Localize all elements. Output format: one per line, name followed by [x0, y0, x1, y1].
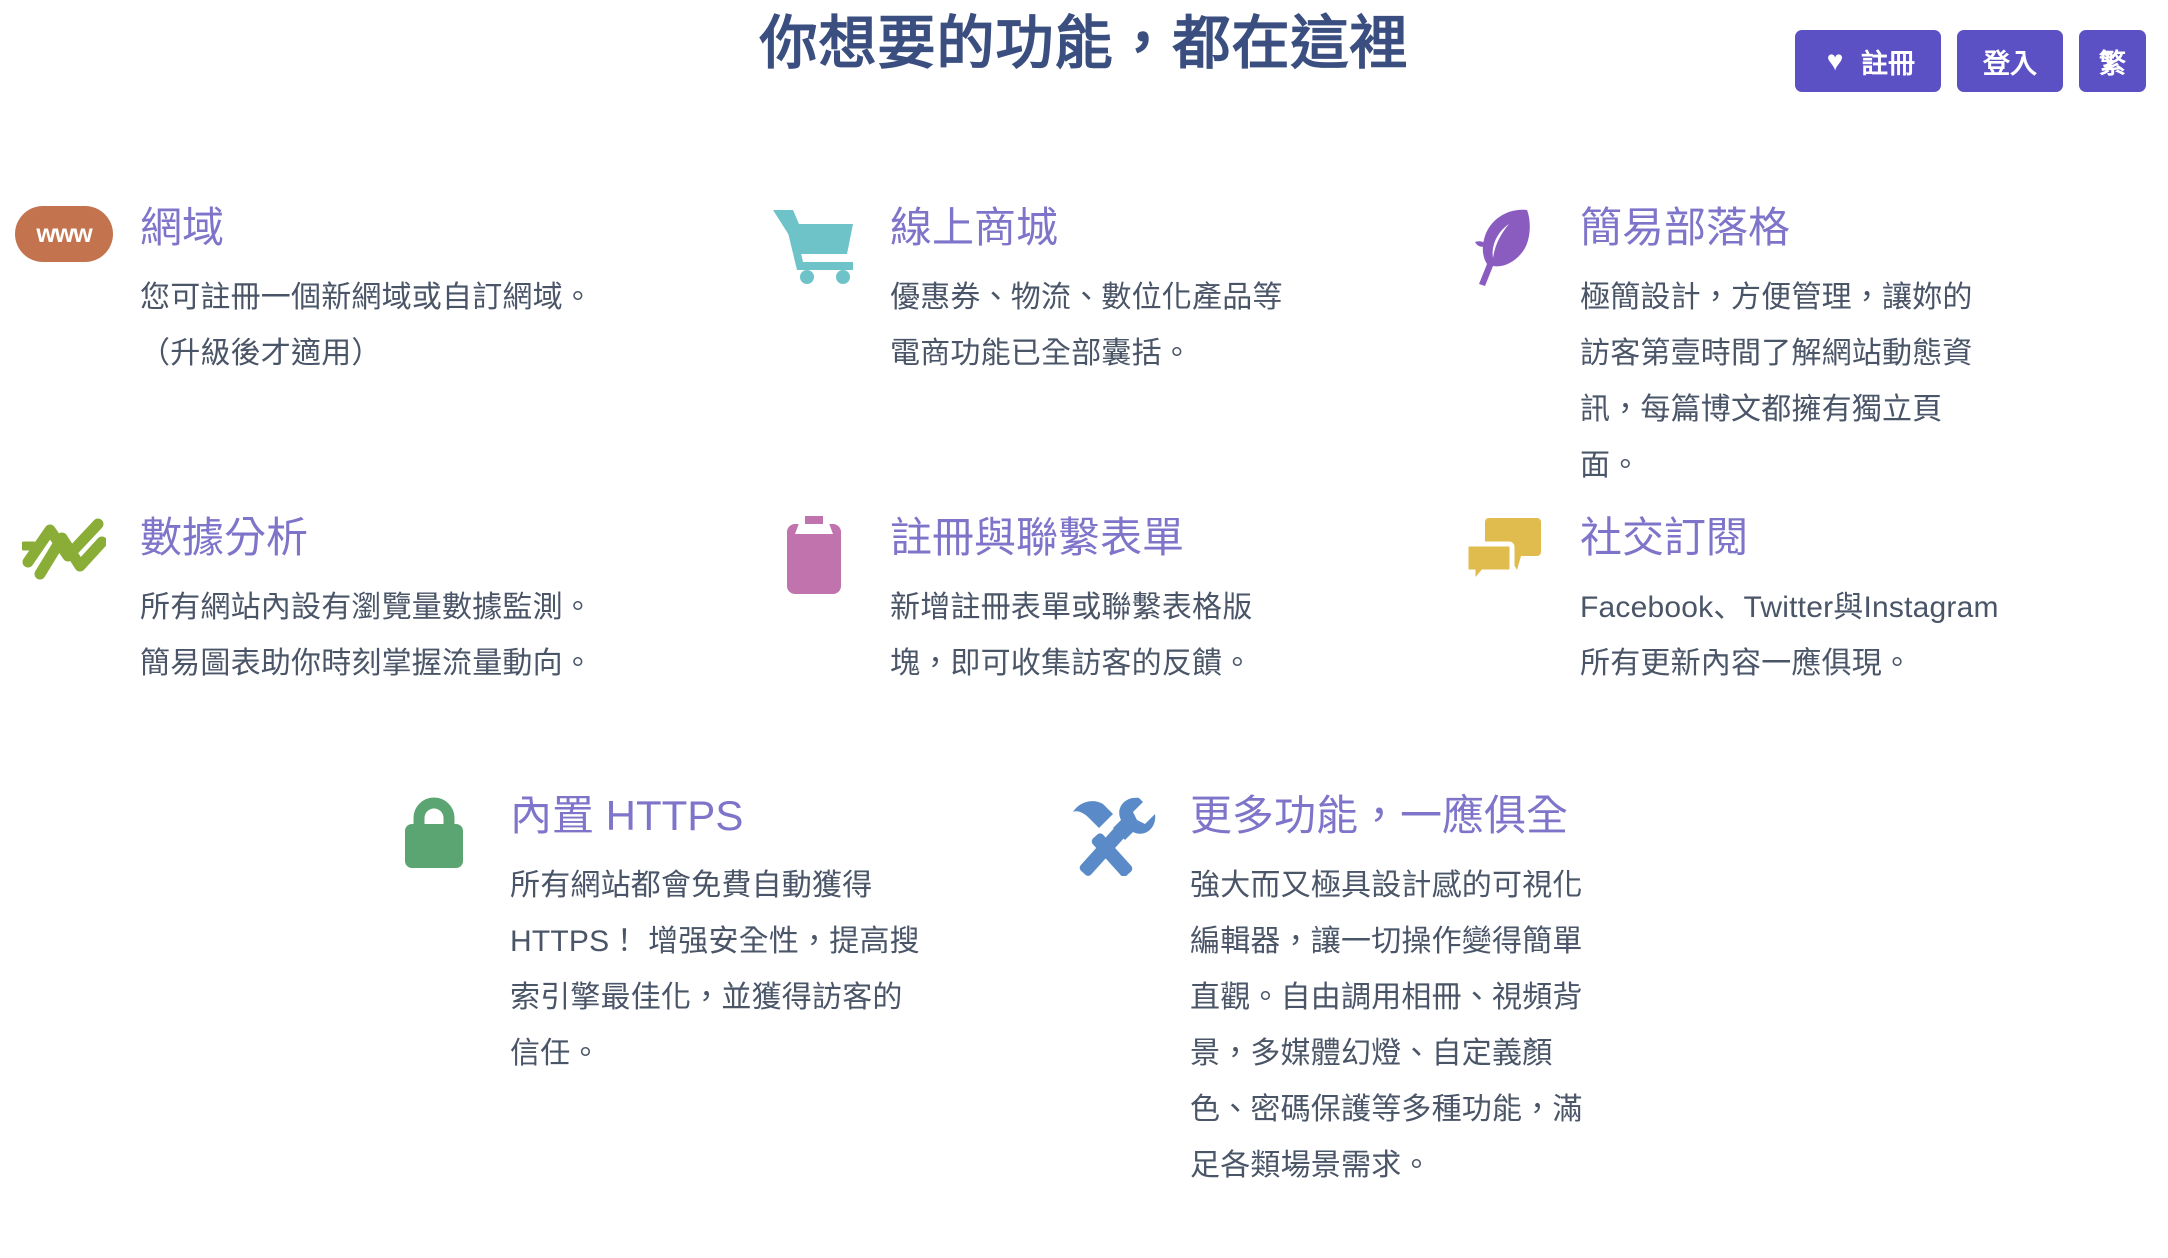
feature-item-analytics: 數據分析 所有網站內設有瀏覽量數據監測。簡易圖表助你時刻掌握流量動向。 [0, 510, 760, 760]
analytics-icon [10, 510, 118, 582]
features-page: 你想要的功能，都在這裡 ♥ 註冊 登入 繁 www 網域 您可註冊一個新網域或自… [0, 0, 2168, 1258]
shopping-cart-icon [760, 200, 868, 284]
feature-title: 社交訂閱 [1580, 510, 2000, 566]
chat-bubbles-icon [1450, 510, 1558, 588]
feature-title: 註冊與聯繫表單 [890, 510, 1290, 566]
feature-title: 更多功能，一應俱全 [1190, 788, 1610, 844]
feather-icon [1450, 200, 1558, 288]
feature-description: 所有網站內設有瀏覽量數據監測。簡易圖表助你時刻掌握流量動向。 [140, 580, 610, 692]
login-button[interactable]: 登入 [1957, 30, 2063, 92]
feature-description: 您可註冊一個新網域或自訂網域。（升級後才適用） [140, 270, 610, 382]
feature-row: www 網域 您可註冊一個新網域或自訂網域。（升級後才適用） [0, 200, 2168, 500]
feature-row: 內置 HTTPS 所有網站都會免費自動獲得 HTTPS！ 增强安全性，提高搜索引… [0, 760, 2168, 1080]
lock-icon [380, 788, 488, 870]
login-button-label: 登入 [1983, 42, 2037, 81]
feature-item-blog: 簡易部落格 極簡設計，方便管理，讓妳的訪客第壹時間了解網站動態資訊，每篇博文都擁… [1450, 200, 2150, 500]
feature-description: Facebook、Twitter與Instagram所有更新內容一應俱現。 [1580, 580, 2000, 692]
feature-description: 優惠券、物流、數位化產品等電商功能已全部囊括。 [890, 270, 1290, 382]
feature-description: 所有網站都會免費自動獲得 HTTPS！ 增强安全性，提高搜索引擎最佳化，並獲得訪… [510, 858, 930, 1082]
feature-row: 數據分析 所有網站內設有瀏覽量數據監測。簡易圖表助你時刻掌握流量動向。 註冊與聯… [0, 500, 2168, 760]
language-button[interactable]: 繁 [2079, 30, 2146, 92]
feature-item-forms: 註冊與聯繫表單 新增註冊表單或聯繫表格版塊，即可收集訪客的反饋。 [760, 510, 1450, 760]
top-actions: ♥ 註冊 登入 繁 [1795, 30, 2146, 92]
clipboard-icon [760, 510, 868, 596]
feature-title: 數據分析 [140, 510, 610, 566]
feature-item-https: 內置 HTTPS 所有網站都會免費自動獲得 HTTPS！ 增强安全性，提高搜索引… [380, 788, 1060, 1080]
feature-item-online-store: 線上商城 優惠券、物流、數位化產品等電商功能已全部囊括。 [760, 200, 1450, 500]
tools-icon [1060, 788, 1168, 876]
feature-title: 內置 HTTPS [510, 788, 930, 844]
feature-title: 簡易部落格 [1580, 200, 1980, 256]
signup-button-label: 註冊 [1861, 42, 1915, 81]
feature-description: 新增註冊表單或聯繫表格版塊，即可收集訪客的反饋。 [890, 580, 1290, 692]
feature-item-social: 社交訂閱 Facebook、Twitter與Instagram所有更新內容一應俱… [1450, 510, 2150, 760]
www-icon-label: www [15, 206, 113, 262]
heart-icon: ♥ [1821, 47, 1849, 75]
feature-item-more: 更多功能，一應俱全 強大而又極具設計感的可視化編輯器，讓一切操作變得簡單直觀。自… [1060, 788, 1760, 1080]
signup-button[interactable]: ♥ 註冊 [1795, 30, 1941, 92]
feature-item-domain: www 網域 您可註冊一個新網域或自訂網域。（升級後才適用） [0, 200, 760, 500]
www-icon: www [10, 200, 118, 262]
features-grid: www 網域 您可註冊一個新網域或自訂網域。（升級後才適用） [0, 200, 2168, 1080]
feature-title: 線上商城 [890, 200, 1290, 256]
language-button-label: 繁 [2099, 42, 2126, 81]
feature-description: 強大而又極具設計感的可視化編輯器，讓一切操作變得簡單直觀。自由調用相冊、視頻背景… [1190, 858, 1610, 1194]
feature-title: 網域 [140, 200, 610, 256]
feature-description: 極簡設計，方便管理，讓妳的訪客第壹時間了解網站動態資訊，每篇博文都擁有獨立頁面。 [1580, 270, 1980, 494]
